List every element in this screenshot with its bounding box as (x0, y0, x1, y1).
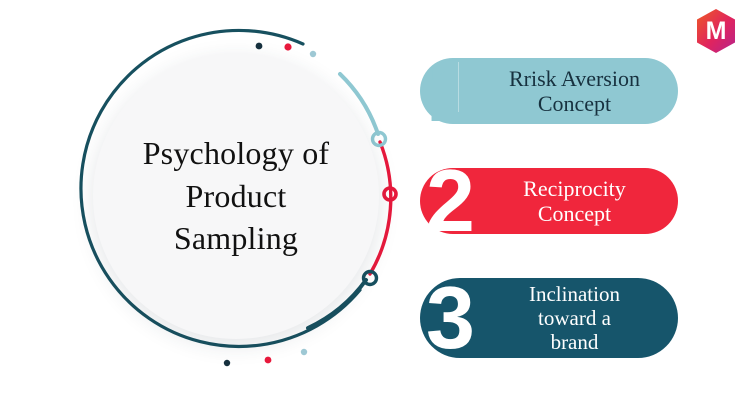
list-item-2-label-line-2: Concept (538, 201, 611, 226)
list-item-1[interactable]: 1 Rrisk Aversion Concept (420, 58, 678, 124)
dot-blue-bottom (301, 349, 307, 355)
list-item-1-label-line-2: Concept (538, 91, 611, 116)
logo-letter: M (694, 8, 738, 54)
list-item-3-label-line-3: brand (551, 330, 599, 354)
list-item-3-label-line-1: Inclination (529, 282, 620, 306)
list-item-1-label-line-1: Rrisk Aversion (509, 66, 640, 91)
list-item-3[interactable]: 3 Inclination toward a brand (420, 278, 678, 358)
brand-logo[interactable]: M (694, 8, 738, 54)
dot-dark-top (256, 43, 263, 50)
list-item-3-label: Inclination toward a brand (483, 282, 678, 354)
list-item-2[interactable]: 2 Reciprocity Concept (420, 168, 678, 234)
page-title-line-1: Psychology of (143, 132, 330, 175)
list-item-1-number: 1 (426, 56, 475, 126)
infographic-canvas: Psychology of Product Sampling 1 Rrisk A… (0, 0, 750, 420)
page-title: Psychology of Product Sampling (93, 53, 379, 339)
dot-dark-bottom (224, 360, 230, 366)
page-title-line-3: Sampling (174, 217, 298, 260)
list-item-2-label-line-1: Reciprocity (523, 176, 626, 201)
dot-red-bottom (265, 357, 272, 364)
list-item-3-number: 3 (426, 283, 475, 353)
page-title-line-2: Product (186, 175, 287, 218)
list-item-2-label: Reciprocity Concept (483, 176, 678, 227)
list-item-2-number: 2 (426, 166, 475, 236)
dot-red-top (284, 43, 291, 50)
list-item-3-label-line-2: toward a (538, 306, 611, 330)
concept-list: 1 Rrisk Aversion Concept 2 Reciprocity C… (408, 40, 708, 380)
circular-title-badge: Psychology of Product Sampling (60, 22, 410, 372)
list-item-1-label: Rrisk Aversion Concept (483, 66, 678, 117)
